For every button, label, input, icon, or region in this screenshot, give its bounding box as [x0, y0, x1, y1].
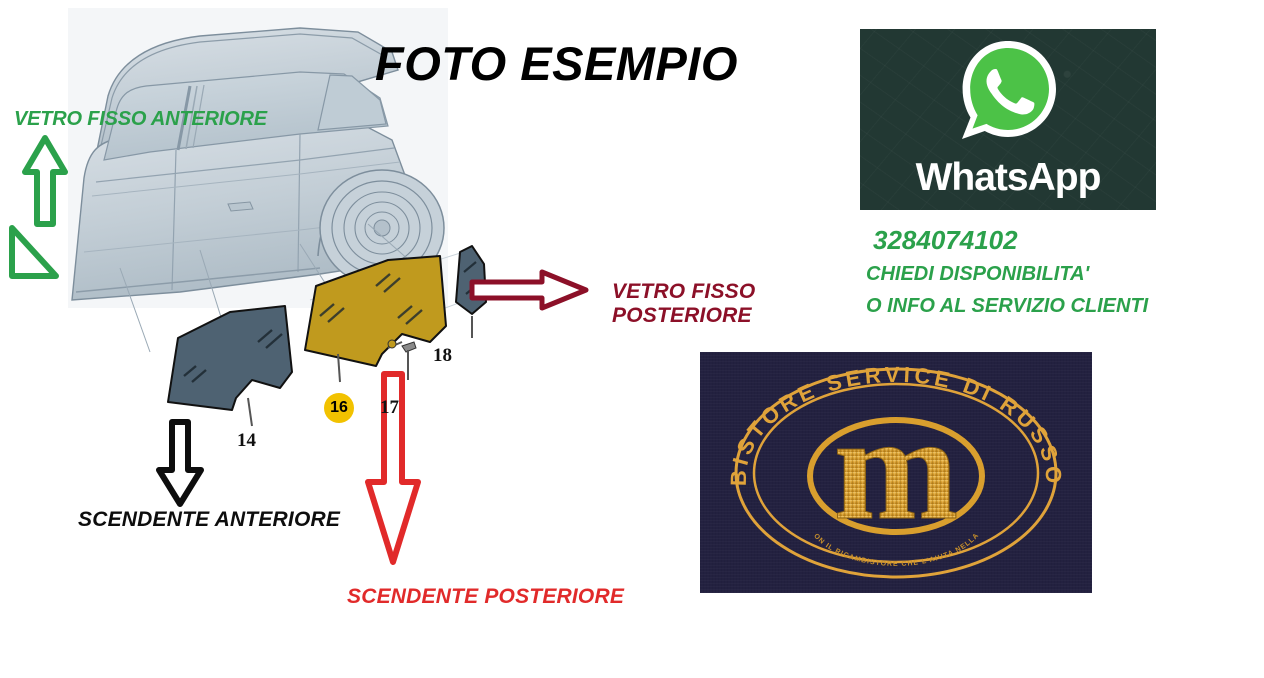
page-title: FOTO ESEMPIO [375, 36, 738, 91]
glass-part-14 [168, 306, 292, 426]
arrow-up-green-icon [22, 134, 68, 228]
company-logo: MRICAMBISTORE SERVICE DI RUSSO MARCO m D… [700, 352, 1092, 593]
contact-line-2: O INFO AL SERVIZIO CLIENTI [866, 295, 1148, 318]
phone-number[interactable]: 3284074102 [873, 225, 1018, 256]
part-number-14: 14 [237, 430, 256, 452]
label-scendente-posteriore: SCENDENTE POSTERIORE [347, 585, 624, 609]
part-number-17: 17 [380, 397, 399, 419]
screenshot-canvas: FOTO ESEMPIO VETRO FISSO ANTERIORE VETRO… [0, 0, 1264, 678]
contact-line-1: CHIEDI DISPONIBILITA' [866, 263, 1089, 286]
glass-part-16 [305, 256, 446, 382]
arrow-down-black-icon [155, 418, 205, 508]
arrow-right-maroon-icon [468, 268, 590, 312]
label-vetro-fisso-posteriore: VETRO FISSO POSTERIORE [612, 280, 755, 327]
part-number-18: 18 [433, 345, 452, 367]
whatsapp-wordmark: WhatsApp [860, 156, 1156, 200]
part-number-badge-16: 16 [324, 393, 354, 423]
logo-monogram: m [834, 385, 959, 551]
whatsapp-logo-icon [860, 33, 1156, 165]
triangle-green-icon [4, 222, 60, 282]
label-scendente-anteriore: SCENDENTE ANTERIORE [78, 508, 340, 532]
label-vetro-fisso-anteriore: VETRO FISSO ANTERIORE [14, 108, 267, 130]
whatsapp-banner[interactable]: WhatsApp [860, 29, 1156, 210]
